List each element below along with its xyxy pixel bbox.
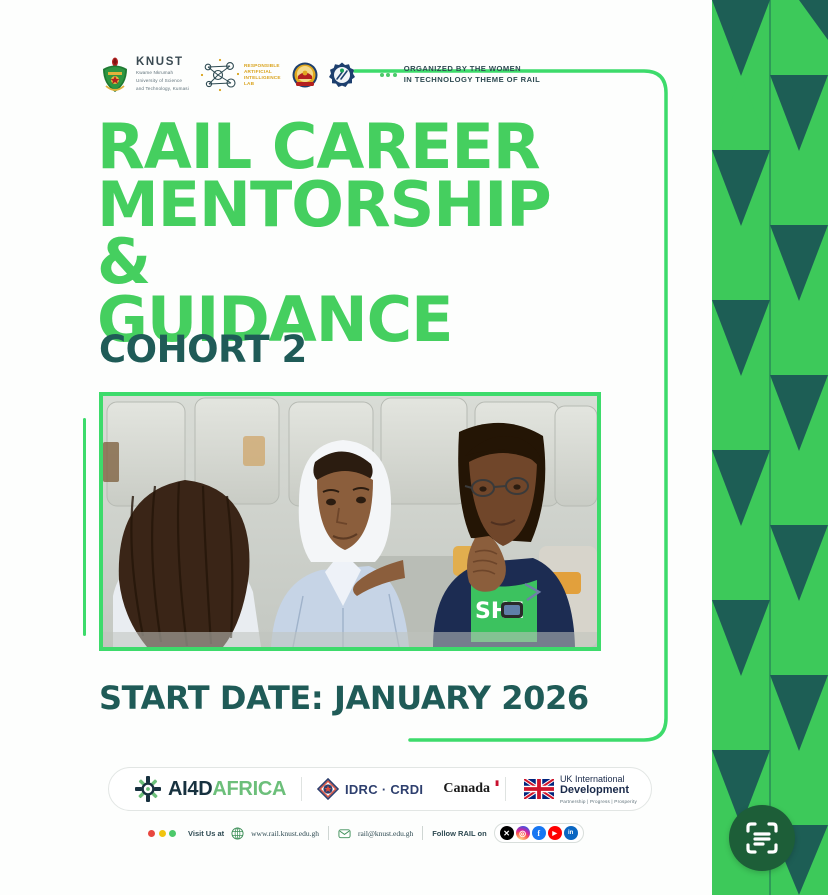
organized-by-line-1: ORGANIZED BY THE WOMEN: [404, 64, 540, 75]
ai4d-emblem-icon: [135, 776, 161, 802]
organized-by-line-2: IN TECHNOLOGY THEME OF RAIL: [404, 75, 540, 86]
page-title: RAIL CAREER MENTORSHIP & GUIDANCE: [97, 118, 617, 349]
email-address[interactable]: rail@knust.edu.gh: [358, 829, 413, 838]
college-seal-icon: [292, 62, 318, 88]
rail-lab-line-1: RESPONSIBLE: [244, 63, 281, 69]
engineering-gear-icon: [329, 62, 355, 88]
ai4d-text-secondary: AFRICA: [212, 778, 286, 800]
knust-sub-3: and Technology, Kumasi: [136, 86, 189, 93]
instagram-icon[interactable]: ◎: [516, 826, 530, 840]
contact-divider-2: [422, 826, 423, 840]
triangle-pattern-panel: [712, 0, 828, 895]
organized-by-block: ORGANIZED BY THE WOMEN IN TECHNOLOGY THE…: [380, 64, 540, 85]
contact-divider-1: [328, 826, 329, 840]
social-icons-group: ✕ ◎ f ▶ in: [494, 823, 584, 843]
rail-lab-logo: RESPONSIBLE ARTIFICIAL INTELLIGENCE LAB: [200, 58, 281, 92]
title-line-2: MENTORSHIP &: [97, 176, 617, 291]
scan-text-icon: [745, 821, 779, 855]
mentorship-photo: SHE: [99, 392, 601, 651]
x-icon[interactable]: ✕: [500, 826, 514, 840]
canada-flag-icon: ▮: [495, 779, 499, 787]
uk-line-2: Development: [560, 784, 637, 797]
left-accent-rule: [83, 418, 86, 636]
rail-lab-line-4: LAB: [244, 81, 281, 87]
contact-strip: Visit Us at www.rail.knust.edu.gh rail@k…: [148, 822, 610, 844]
email-icon: [338, 827, 351, 840]
idrc-text: IDRC · CRDI: [345, 782, 423, 797]
start-date-text: START DATE: JANUARY 2026: [99, 679, 589, 717]
poster-body: KNUST Kwame Nkrumah University of Scienc…: [0, 0, 712, 895]
scan-text-fab[interactable]: [729, 805, 795, 871]
union-jack-icon: [524, 779, 554, 799]
facebook-icon[interactable]: f: [532, 826, 546, 840]
knust-sub-1: Kwame Nkrumah: [136, 70, 189, 77]
canada-wordmark: Canada▮: [443, 768, 490, 810]
follow-rail-label: Follow RAIL on: [432, 829, 486, 838]
visit-us-label: Visit Us at: [188, 829, 224, 838]
mentorship-photo-illustration: SHE: [103, 396, 597, 647]
idrc-logo: IDRC · CRDI: [317, 768, 423, 810]
linkedin-icon[interactable]: in: [564, 826, 578, 840]
poster-screenshot: KNUST Kwame Nkrumah University of Scienc…: [0, 0, 828, 895]
molecule-network-icon: [200, 58, 240, 92]
uk-international-development-logo: UK International Development Partnership…: [524, 768, 637, 810]
cohort-subtitle: COHORT 2: [99, 328, 307, 371]
globe-icon: [231, 827, 244, 840]
partner-logo-strip: AI4DAFRICA IDRC · CRDI Canada▮: [108, 767, 652, 811]
canada-text: Canada: [443, 781, 490, 796]
ai4d-text-primary: AI4D: [168, 778, 212, 800]
knust-logo: KNUST Kwame Nkrumah University of Scienc…: [100, 56, 189, 94]
knust-crest-icon: [100, 56, 130, 94]
uk-line-3: Partnership | Progress | Prosperity: [560, 799, 637, 804]
traffic-light-dots-icon: [148, 830, 176, 837]
youtube-icon[interactable]: ▶: [548, 826, 562, 840]
website-url[interactable]: www.rail.knust.edu.gh: [251, 829, 319, 838]
organizer-dots-icon: [380, 73, 397, 77]
knust-name: KNUST: [136, 57, 189, 69]
header-logo-bar: KNUST Kwame Nkrumah University of Scienc…: [100, 52, 560, 98]
idrc-diamond-icon: [317, 778, 339, 800]
knust-sub-2: University of Science: [136, 78, 189, 85]
ai4d-africa-logo: AI4DAFRICA: [109, 768, 286, 810]
title-line-1: RAIL CAREER: [97, 118, 617, 176]
uk-line-1: UK International: [560, 774, 637, 784]
